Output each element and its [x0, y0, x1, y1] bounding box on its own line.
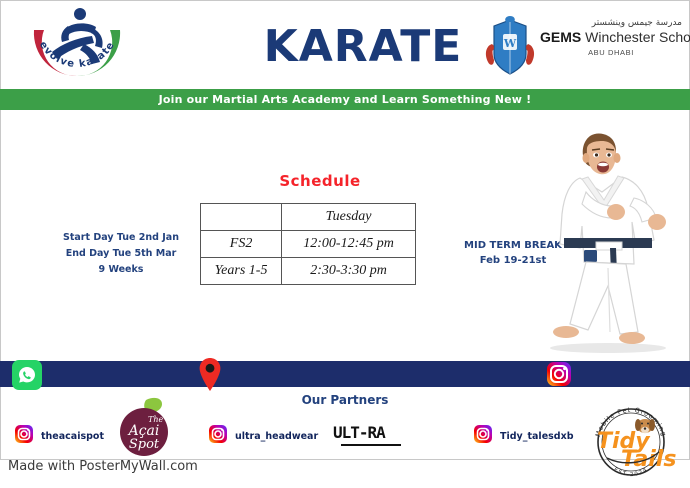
- location-pin-icon: [198, 357, 222, 393]
- tidy-tails-logo: Mobile Pet Grooming EST 2024 Tidy Tails: [583, 400, 679, 482]
- partner-item[interactable]: ultra_headwear: [208, 424, 318, 449]
- term-start-date: Start Day Tue 2nd Jan: [48, 230, 194, 246]
- gems-school-name: GEMS Winchester School: [540, 29, 682, 46]
- schedule-row-time: 2:30-3:30 pm: [282, 258, 416, 285]
- whatsapp-icon[interactable]: [12, 360, 42, 390]
- schedule-heading: Schedule: [240, 172, 400, 190]
- instagram-icon[interactable]: [546, 361, 572, 387]
- postermywall-watermark: Made with PosterMyWall.com: [8, 459, 198, 474]
- schedule-row-label: FS2: [201, 231, 282, 258]
- page-title: KARATE: [238, 18, 488, 74]
- table-row: FS2 12:00-12:45 pm: [201, 231, 416, 258]
- instagram-icon[interactable]: [473, 424, 493, 449]
- partner-item[interactable]: Tidy_talesdxb: [473, 424, 574, 449]
- acai-logo-line3: Spot: [129, 437, 160, 452]
- ultra-logo: ULT-RA: [333, 424, 405, 452]
- poster-header: evolve karate KARATE W: [0, 0, 690, 92]
- partner-handle[interactable]: ultra_headwear: [235, 431, 318, 442]
- instagram-icon[interactable]: [208, 424, 228, 449]
- evolve-karate-logo: evolve karate: [22, 4, 132, 88]
- gems-word: GEMS: [540, 29, 581, 45]
- schedule-col-blank: [201, 204, 282, 231]
- partner-handle[interactable]: Tidy_talesdxb: [500, 431, 574, 442]
- table-row: Years 1-5 2:30-3:30 pm: [201, 258, 416, 285]
- tidy-logo-line2: Tails: [621, 447, 676, 472]
- gems-school-rest: Winchester School: [581, 29, 690, 45]
- schedule-row-time: 12:00-12:45 pm: [282, 231, 416, 258]
- poster-canvas: evolve karate KARATE W: [0, 0, 690, 488]
- instagram-icon[interactable]: [14, 424, 34, 449]
- gems-arabic-name: مدرسة جيمس وينشستر: [540, 18, 682, 29]
- partners-heading: Our Partners: [275, 393, 415, 407]
- acai-spot-logo: The Açai Spot: [116, 396, 172, 458]
- karate-boy-photo: [530, 122, 680, 354]
- schedule-table: Tuesday FS2 12:00-12:45 pm Years 1-5 2:3…: [200, 203, 416, 285]
- contact-bar: [0, 361, 690, 387]
- gems-city: ABU DHABI: [540, 48, 682, 57]
- svg-text:W: W: [503, 37, 517, 50]
- school-crest-icon: W: [482, 14, 538, 80]
- partner-handle[interactable]: theacaispot: [41, 431, 104, 442]
- tagline-banner: Join our Martial Arts Academy and Learn …: [0, 89, 690, 110]
- ultra-logo-rule: [341, 444, 401, 446]
- ultra-logo-text: ULT-RA: [333, 424, 405, 442]
- partner-item[interactable]: theacaispot: [14, 424, 104, 449]
- table-row: Tuesday: [201, 204, 416, 231]
- gems-school-logo: W مدرسة جيمس وينشستر GEMS Winchester Sch…: [482, 14, 682, 80]
- schedule-col-day: Tuesday: [282, 204, 416, 231]
- term-end-date: End Day Tue 5th Mar: [48, 246, 194, 262]
- term-weeks: 9 Weeks: [48, 262, 194, 278]
- gems-text-block: مدرسة جيمس وينشستر GEMS Winchester Schoo…: [540, 18, 682, 57]
- term-dates-block: Start Day Tue 2nd Jan End Day Tue 5th Ma…: [48, 230, 194, 278]
- schedule-row-label: Years 1-5: [201, 258, 282, 285]
